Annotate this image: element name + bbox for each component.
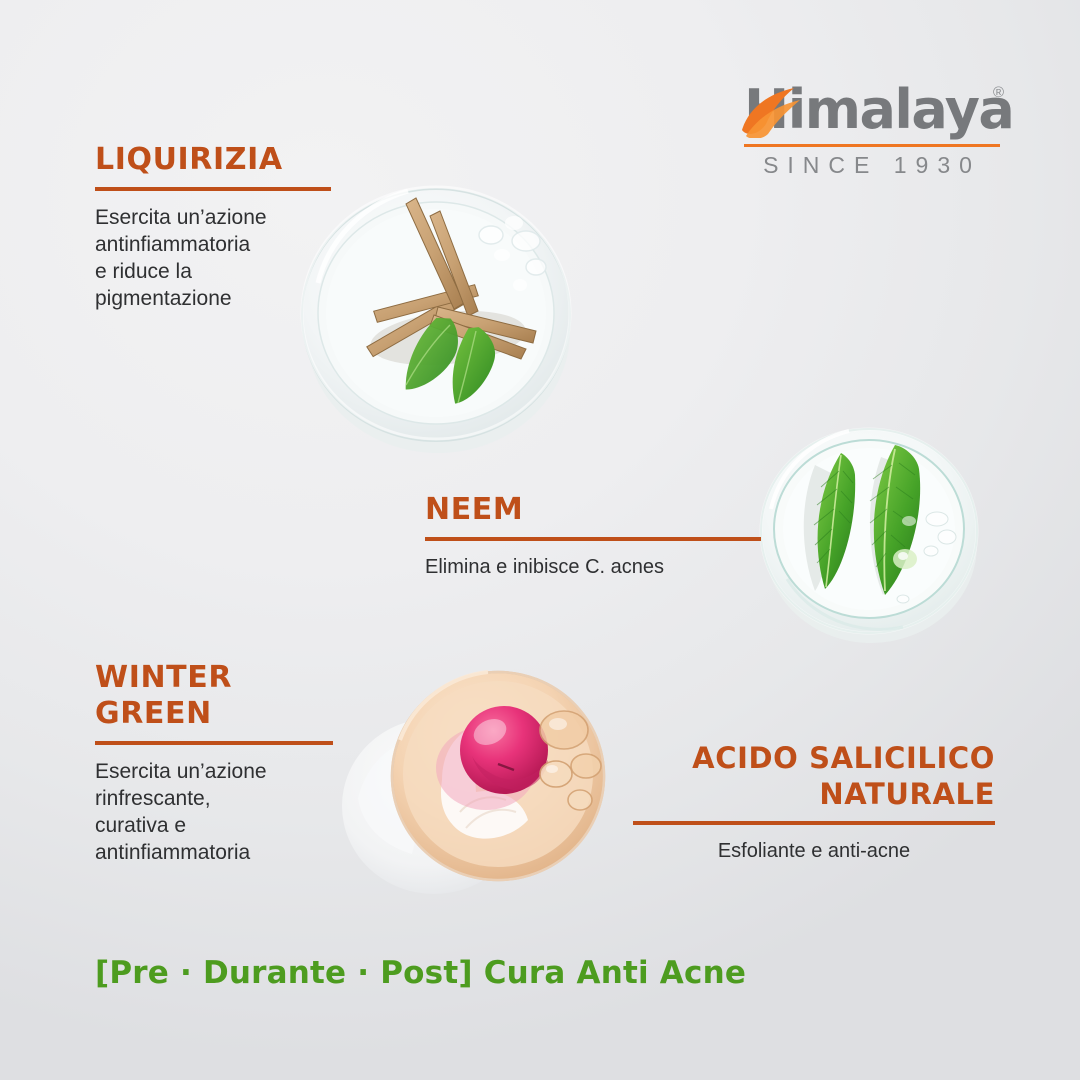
ingredient-description-neem: Elimina e inibisce C. acnes <box>425 541 761 581</box>
logo-wordmark: Himalaya ® <box>742 82 1004 144</box>
himalaya-logo: Himalaya ® SINCE 1930 <box>742 82 1004 144</box>
logo-brand-name: Himalaya <box>744 80 1013 140</box>
ingredient-heading-wintergreen: WINTER GREEN <box>95 660 333 732</box>
logo-divider-rule <box>744 144 1000 147</box>
ingredient-heading-liquirizia: LIQUIRIZIA <box>95 142 331 178</box>
ingredient-block-acido-salicilico: ACIDO SALICILICO NATURALE Esfoliante e a… <box>633 740 995 865</box>
ingredient-block-liquirizia: LIQUIRIZIA Esercita un’azione antinfiamm… <box>95 142 331 312</box>
petri-dish-neem-leaves <box>753 413 987 647</box>
registered-trademark-icon: ® <box>993 84 1004 101</box>
petri-dish-licorice-roots <box>288 163 584 459</box>
ingredient-description-wintergreen: Esercita un’azione rinfrescante, curativ… <box>95 745 333 866</box>
poster-canvas: Himalaya ® SINCE 1930 LIQUIRIZIA Esercit… <box>0 0 1080 1080</box>
ingredient-block-neem: NEEM Elimina e inibisce C. acnes <box>425 492 761 581</box>
ingredient-heading-neem: NEEM <box>425 492 761 528</box>
petri-dish-wintergreen <box>338 648 630 914</box>
footer-tagline: [Pre · Durante · Post] Cura Anti Acne <box>95 955 746 991</box>
ingredient-block-wintergreen: WINTER GREEN Esercita un’azione rinfresc… <box>95 660 333 866</box>
ingredient-description-liquirizia: Esercita un’azione antinfiammatoria e ri… <box>95 191 331 312</box>
ingredient-description-acido-salicilico: Esfoliante e anti-acne <box>633 825 995 865</box>
logo-since-text: SINCE 1930 <box>744 152 1000 179</box>
ingredient-heading-acido-salicilico: ACIDO SALICILICO NATURALE <box>633 740 995 812</box>
